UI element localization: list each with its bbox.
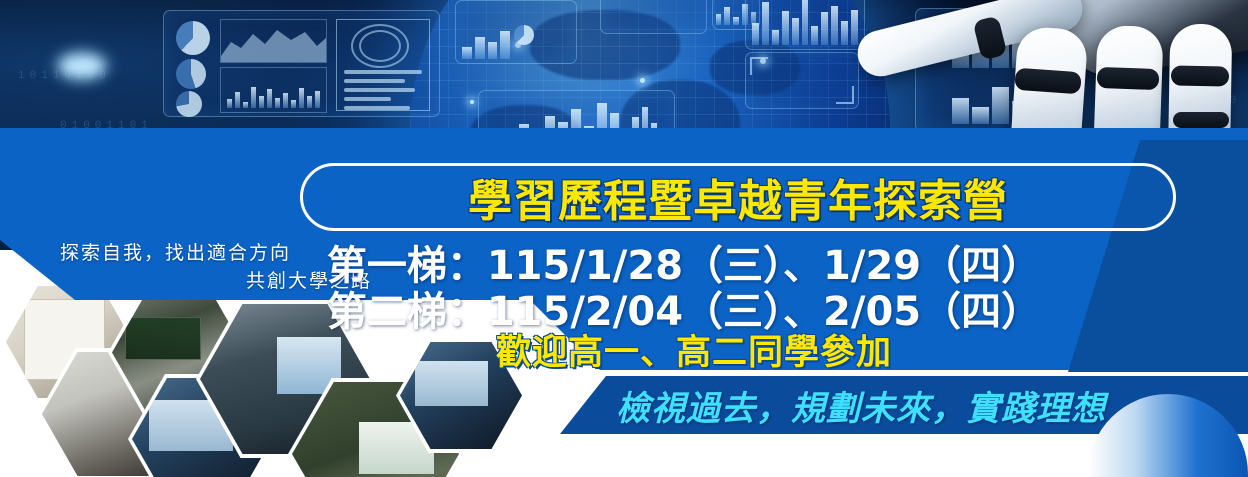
main-title-pill: 學習歷程暨卓越青年探索營 [300, 163, 1176, 231]
hud-donut-chart [359, 30, 401, 62]
hud-bars [462, 28, 510, 59]
main-title-text: 學習歷程暨卓越青年探索營 [468, 165, 1008, 229]
logo-tansuo: 探 索 [34, 100, 334, 240]
bottom-slogan-text: 檢視過去，規劃未來，實踐理想 [616, 381, 1106, 430]
hud-panel-right-lower [745, 52, 859, 109]
hud-candles-right [745, 0, 865, 50]
hud-area-chart [220, 19, 327, 63]
robot-knuckle [1097, 67, 1160, 90]
corner-bracket-icon [836, 86, 854, 104]
robot-knuckle [1014, 68, 1081, 95]
corner-bracket-icon [750, 57, 768, 75]
hud-chart-top-center [455, 0, 577, 64]
hud-area-svg [221, 20, 326, 62]
hud-pie-chart [514, 25, 534, 45]
lens-flare [60, 55, 104, 77]
hud-pie-chart [176, 21, 210, 55]
robot-knuckle [1171, 65, 1229, 86]
hud-radar-panel [336, 19, 430, 111]
robot-knuckle [1173, 112, 1229, 128]
hud-data-lines [344, 70, 421, 115]
welcome-text: 歡迎高一、高二同學參加 [0, 324, 1248, 375]
hud-bars [752, 0, 858, 45]
network-node-dot [640, 78, 645, 83]
logo-char-tan: 探 [34, 100, 128, 196]
poster-banner: 10110100 01001101 1011 0110 [0, 0, 1248, 477]
hud-panel-top [600, 0, 707, 34]
hud-pie-chart [176, 59, 206, 89]
network-node-dot [470, 100, 474, 104]
